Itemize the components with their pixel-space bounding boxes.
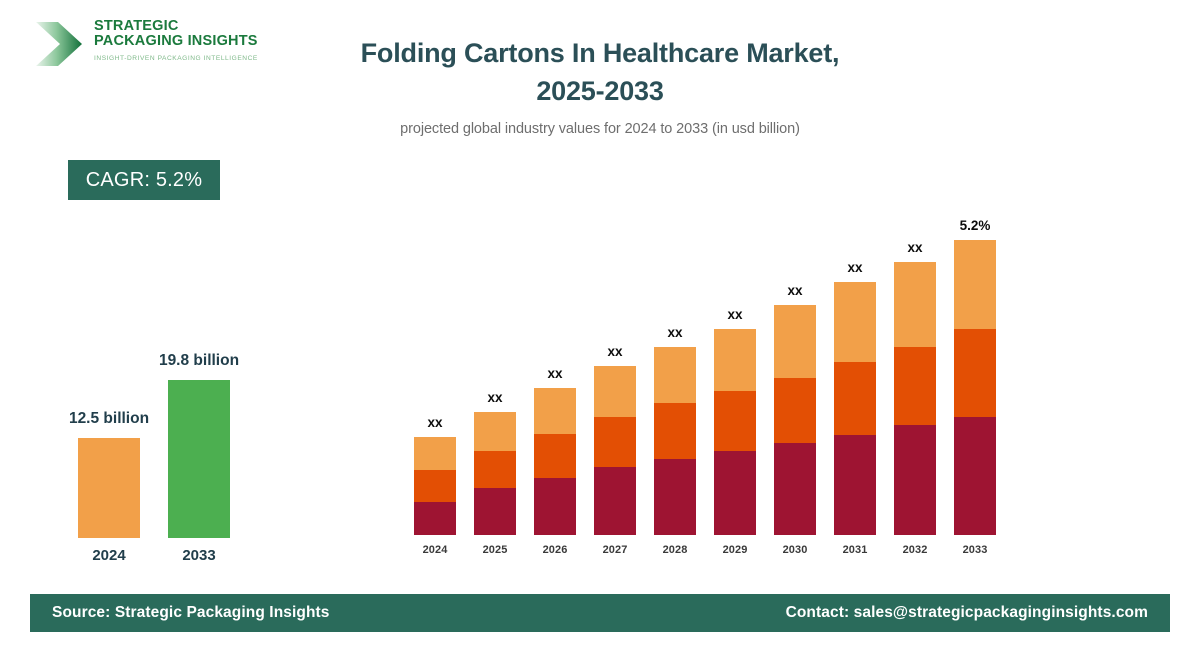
forecast-year-label: 2031 [834, 544, 876, 556]
forecast-bar-segment [654, 347, 696, 403]
forecast-bar-segment [534, 478, 576, 535]
chevron-logo-icon [34, 18, 86, 70]
comparison-value-label: 19.8 billion [159, 352, 239, 370]
forecast-bar-segment [774, 305, 816, 378]
forecast-value-label: 5.2% [960, 218, 991, 233]
forecast-year-label: 2029 [714, 544, 756, 556]
forecast-bar-segment [534, 434, 576, 478]
brand-logo: STRATEGIC PACKAGING INSIGHTS INSIGHT-DRI… [30, 14, 260, 76]
cagr-badge: CAGR: 5.2% [68, 160, 220, 200]
infographic-page: STRATEGIC PACKAGING INSIGHTS INSIGHT-DRI… [0, 0, 1200, 650]
brand-name-line1: STRATEGIC [94, 19, 264, 34]
comparison-value-label: 12.5 billion [69, 410, 149, 428]
forecast-value-label: xx [427, 415, 442, 430]
forecast-value-label: xx [727, 307, 742, 322]
forecast-bar-segment [834, 282, 876, 362]
footer-bar: Source: Strategic Packaging Insights Con… [30, 594, 1170, 632]
footer-contact: Contact: sales@strategicpackaginginsight… [786, 604, 1148, 622]
forecast-bar-segment [714, 451, 756, 535]
forecast-year-label: 2025 [474, 544, 516, 556]
forecast-bar-segment [534, 388, 576, 434]
forecast-bar-segment [474, 412, 516, 451]
forecast-stack [834, 282, 876, 535]
forecast-bar-segment [894, 262, 936, 347]
forecast-bar-segment [414, 502, 456, 535]
forecast-value-label: xx [907, 240, 922, 255]
forecast-value-label: xx [667, 325, 682, 340]
forecast-bar-segment [414, 470, 456, 502]
forecast-value-label: xx [547, 366, 562, 381]
forecast-stack [714, 329, 756, 535]
forecast-year-label: 2028 [654, 544, 696, 556]
brand-tagline: INSIGHT-DRIVEN PACKAGING INTELLIGENCE [94, 53, 264, 65]
forecast-value-label: xx [607, 344, 622, 359]
comparison-year-label: 2024 [78, 547, 140, 564]
forecast-stack [774, 305, 816, 535]
forecast-bar-segment [474, 488, 516, 535]
comparison-year-label: 2033 [168, 547, 230, 564]
forecast-year-label: 2030 [774, 544, 816, 556]
forecast-stack [534, 388, 576, 535]
forecast-bar-segment [954, 417, 996, 535]
forecast-stack [594, 366, 636, 535]
forecast-bar-segment [594, 467, 636, 535]
forecast-year-label: 2027 [594, 544, 636, 556]
forecast-value-label: xx [847, 260, 862, 275]
forecast-bar-segment [894, 425, 936, 535]
forecast-year-label: 2032 [894, 544, 936, 556]
forecast-year-label: 2033 [954, 544, 996, 556]
forecast-bar-segment [714, 391, 756, 451]
page-subtitle: projected global industry values for 202… [280, 119, 920, 139]
comparison-bar [78, 438, 140, 538]
forecast-bar-segment [414, 437, 456, 470]
forecast-bar-segment [654, 459, 696, 535]
forecast-bar-segment [774, 378, 816, 443]
page-title: Folding Cartons In Healthcare Market, 20… [280, 34, 920, 110]
brand-name-line2: PACKAGING INSIGHTS [94, 34, 264, 49]
page-title-line2: 2025-2033 [280, 72, 920, 110]
forecast-bar-segment [954, 240, 996, 329]
forecast-bar-segment [654, 403, 696, 459]
forecast-bar-segment [954, 329, 996, 417]
forecast-stack [894, 262, 936, 535]
forecast-bar-segment [594, 417, 636, 467]
forecast-stack [414, 437, 456, 535]
forecast-bar-segment [474, 451, 516, 488]
comparison-bar [168, 380, 230, 538]
stacked-forecast-chart: xx2024xx2025xx2026xx2027xx2028xx2029xx20… [395, 200, 1015, 560]
forecast-stack [954, 240, 996, 535]
forecast-value-label: xx [487, 390, 502, 405]
forecast-year-label: 2026 [534, 544, 576, 556]
header-block: Folding Cartons In Healthcare Market, 20… [280, 34, 920, 139]
forecast-bar-segment [894, 347, 936, 425]
page-title-line1: Folding Cartons In Healthcare Market, [280, 34, 920, 72]
forecast-bar-segment [594, 366, 636, 417]
forecast-value-label: xx [787, 283, 802, 298]
footer-source: Source: Strategic Packaging Insights [52, 604, 330, 622]
forecast-stack [474, 412, 516, 535]
forecast-stack [654, 347, 696, 535]
forecast-bar-segment [834, 362, 876, 435]
forecast-bar-segment [834, 435, 876, 535]
forecast-bar-segment [774, 443, 816, 535]
brand-wordmark: STRATEGIC PACKAGING INSIGHTS INSIGHT-DRI… [94, 19, 264, 65]
forecast-bar-segment [714, 329, 756, 391]
endpoint-comparison-chart: 12.5 billion202419.8 billion2033 [50, 300, 290, 570]
forecast-year-label: 2024 [414, 544, 456, 556]
